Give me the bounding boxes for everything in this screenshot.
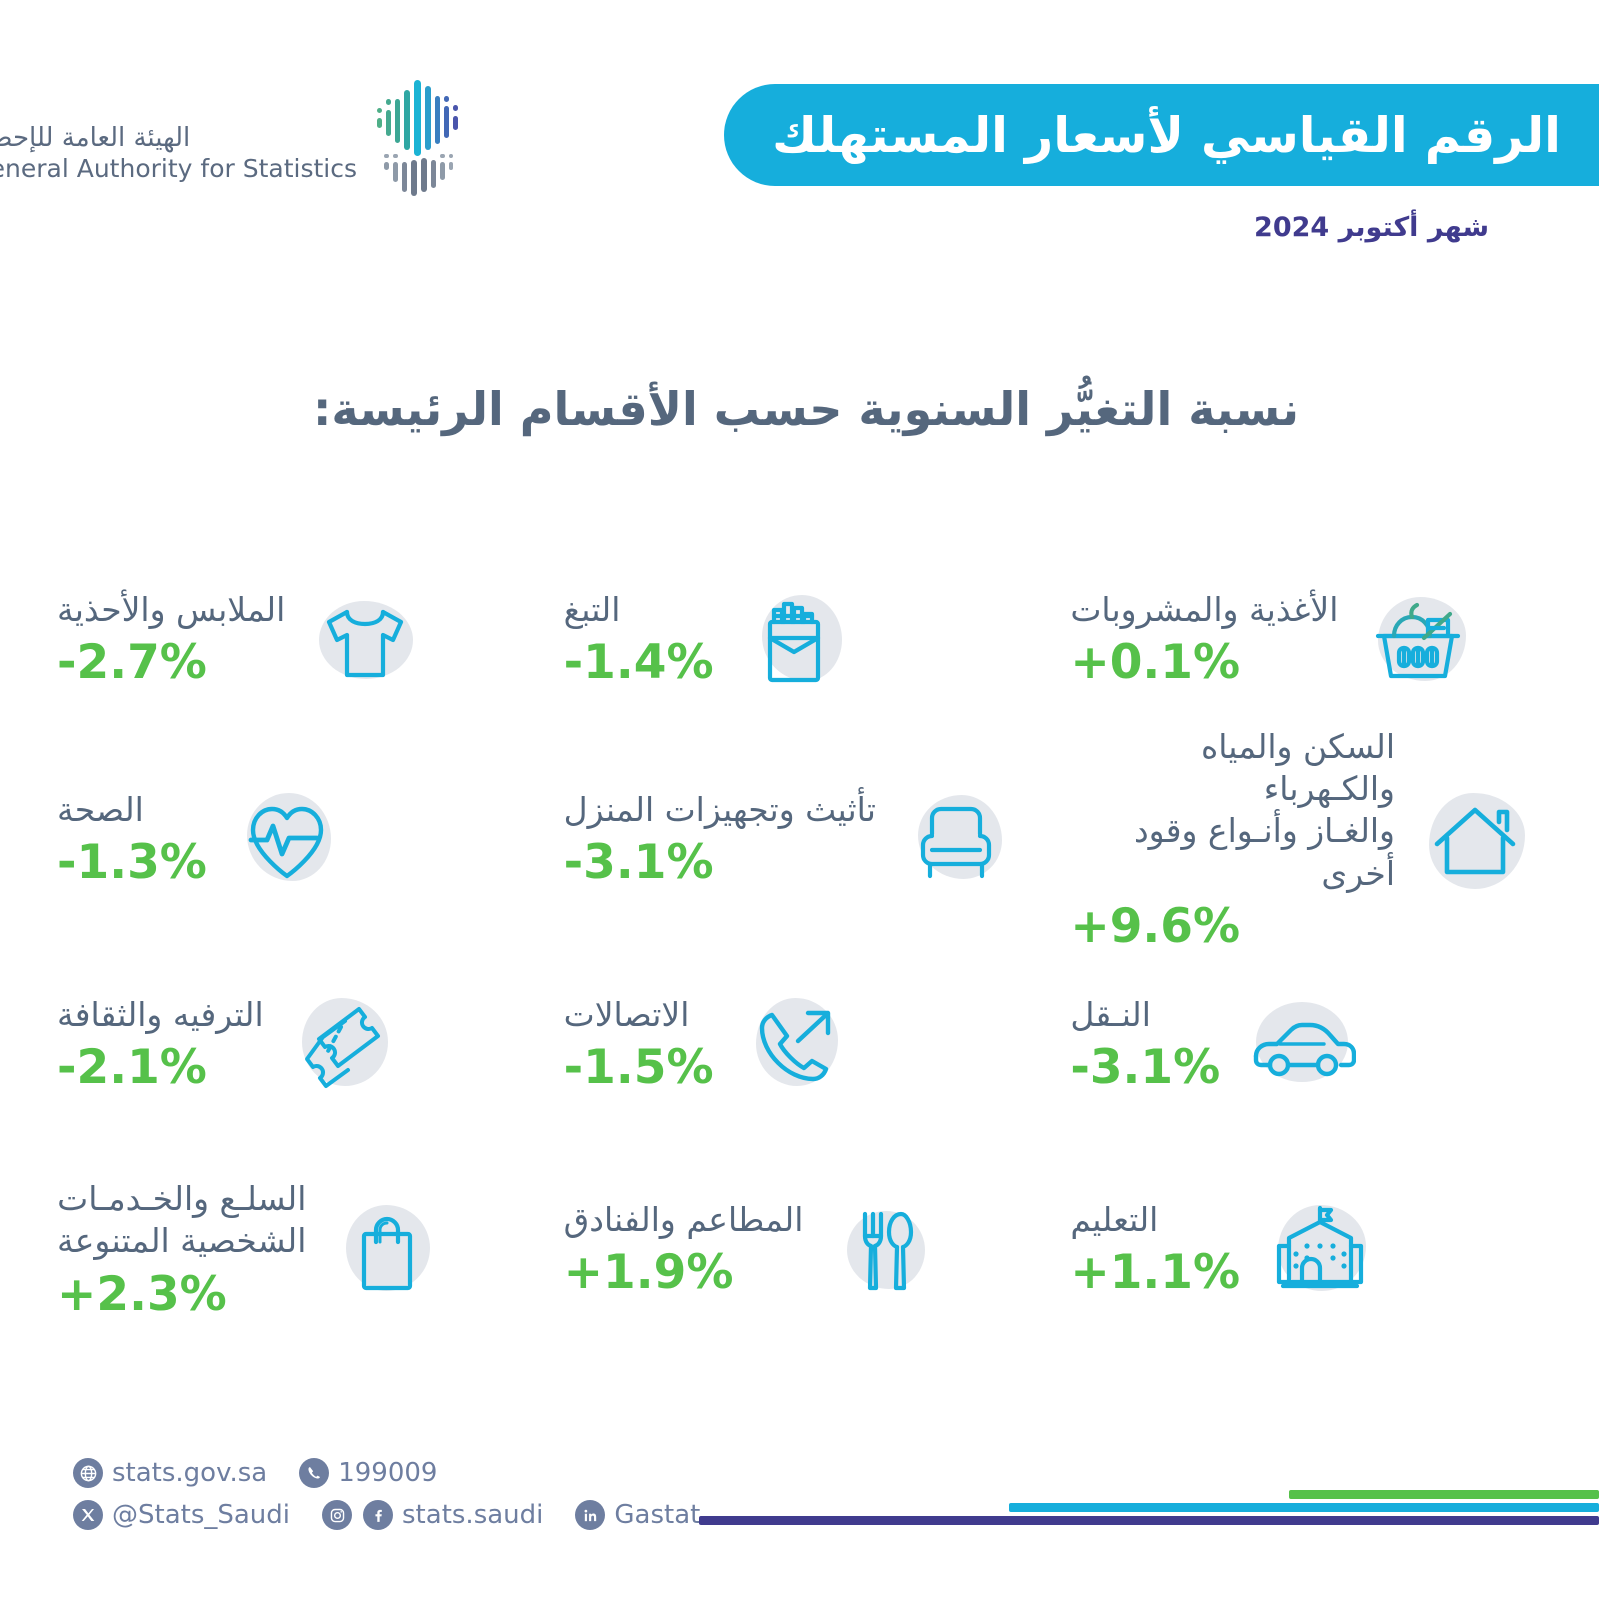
stat-text-communications: الاتصالات -1.5%: [565, 994, 715, 1096]
category-value: -2.7%: [58, 635, 208, 690]
stripe-cyan: [1010, 1503, 1600, 1512]
category-label: النـقل: [1071, 994, 1152, 1036]
armchair-icon: [891, 781, 1023, 899]
shopping-bag-icon: [321, 1191, 453, 1309]
category-label: الاتصالات: [565, 994, 691, 1036]
category-value: -3.1%: [1071, 1040, 1221, 1095]
decorative-stripes: [0, 1480, 1600, 1540]
category-value: +2.3%: [58, 1267, 228, 1322]
category-value: +1.1%: [1071, 1245, 1241, 1300]
banner-title-text: الرقم القياسي لأسعار المستهلك: [773, 111, 1562, 160]
school-building-icon: [1255, 1191, 1387, 1309]
category-label: الترفيه والثقافة: [58, 994, 265, 1036]
category-value: -2.1%: [58, 1040, 208, 1095]
gastat-logo: الهيئة العامة للإحصاء General Authority …: [62, 62, 482, 212]
category-value: -1.5%: [565, 1040, 715, 1095]
category-value: +0.1%: [1071, 635, 1241, 690]
tshirt-icon: [300, 581, 432, 699]
banner-title: الرقم القياسي لأسعار المستهلك: [725, 84, 1600, 186]
category-label: السلـع والخـدمـات الشخصية المتنوعة: [58, 1178, 307, 1262]
stat-card-restaurants: المطاعم والفنادق +1.9%: [547, 1145, 1054, 1355]
page-header: الهيئة العامة للإحصاء General Authority …: [0, 0, 1600, 300]
section-title: نسبة التغيُّر السنوية حسب الأقسام الرئيس…: [290, 378, 1300, 440]
stat-text-clothing: الملابس والأحذية -2.7%: [58, 589, 286, 691]
category-label: الصحة: [58, 789, 145, 831]
car-icon: [1235, 986, 1367, 1104]
category-label: المطاعم والفنادق: [565, 1199, 805, 1241]
logo-wordmark: الهيئة العامة للإحصاء General Authority …: [0, 90, 358, 184]
stat-text-recreation: الترفيه والثقافة -2.1%: [58, 994, 265, 1096]
stat-text-transport: النـقل -3.1%: [1071, 994, 1221, 1096]
stat-text-tobacco: التبغ -1.4%: [565, 589, 715, 691]
stat-card-furnishings: تأثيث وتجهيزات المنزل -3.1%: [547, 735, 1054, 945]
stat-text-education: التعليم +1.1%: [1071, 1199, 1241, 1301]
category-label: الملابس والأحذية: [58, 589, 286, 631]
stat-card-transport: النـقل -3.1%: [1053, 945, 1560, 1145]
stat-text-restaurants: المطاعم والفنادق +1.9%: [565, 1199, 805, 1301]
category-value: -1.4%: [565, 635, 715, 690]
stat-text-health: الصحة -1.3%: [58, 789, 208, 891]
stripe-purple: [700, 1516, 1600, 1525]
stat-text-housing: السكن والمياه والكـهرباء والغـاز وأنـواع…: [1071, 726, 1396, 954]
tickets-icon: [279, 986, 411, 1104]
phone-arrow-icon: [729, 986, 861, 1104]
stat-card-tobacco: التبغ -1.4%: [547, 545, 1054, 735]
stat-card-misc-goods: السلـع والخـدمـات الشخصية المتنوعة +2.3%: [40, 1145, 547, 1355]
logo-mark-icon: [372, 72, 482, 202]
logo-english-name: General Authority for Statistics: [0, 154, 358, 184]
stat-card-housing: السكن والمياه والكـهرباء والغـاز وأنـواع…: [1053, 735, 1560, 945]
stat-card-recreation: الترفيه والثقافة -2.1%: [40, 945, 547, 1145]
stripe-green: [1290, 1490, 1600, 1499]
category-label: تأثيث وتجهيزات المنزل: [565, 789, 877, 831]
category-value: -1.3%: [58, 835, 208, 890]
category-label: التعليم: [1071, 1199, 1159, 1241]
stat-text-misc-goods: السلـع والخـدمـات الشخصية المتنوعة +2.3%: [58, 1178, 307, 1322]
stat-card-health: الصحة -1.3%: [40, 735, 547, 945]
stat-card-food: الأغذية والمشروبات +0.1%: [1053, 545, 1560, 735]
categories-grid: الأغذية والمشروبات +0.1% التبغ -1.4%: [40, 545, 1560, 1375]
cigarette-pack-icon: [729, 581, 861, 699]
stat-text-food: الأغذية والمشروبات +0.1%: [1071, 589, 1339, 691]
stat-card-education: التعليم +1.1%: [1053, 1145, 1560, 1355]
page-footer: stats.gov.sa 199009 @Stats_Saudi: [0, 1440, 1600, 1600]
category-label: الأغذية والمشروبات: [1071, 589, 1339, 631]
category-label: السكن والمياه والكـهرباء والغـاز وأنـواع…: [1071, 726, 1396, 895]
category-value: +1.9%: [565, 1245, 735, 1300]
stat-card-communications: الاتصالات -1.5%: [547, 945, 1054, 1145]
stat-card-clothing: الملابس والأحذية -2.7%: [40, 545, 547, 735]
stat-text-furnishings: تأثيث وتجهيزات المنزل -3.1%: [565, 789, 877, 891]
logo-arabic-name: الهيئة العامة للإحصاء: [0, 124, 191, 154]
category-label: التبغ: [565, 589, 622, 631]
category-value: -3.1%: [565, 835, 715, 890]
fork-spoon-icon: [818, 1191, 950, 1309]
report-date: شهر أكتوبر 2024: [1255, 212, 1490, 243]
heart-pulse-icon: [222, 781, 354, 899]
shopping-basket-icon: [1353, 581, 1485, 699]
house-icon: [1410, 781, 1542, 899]
